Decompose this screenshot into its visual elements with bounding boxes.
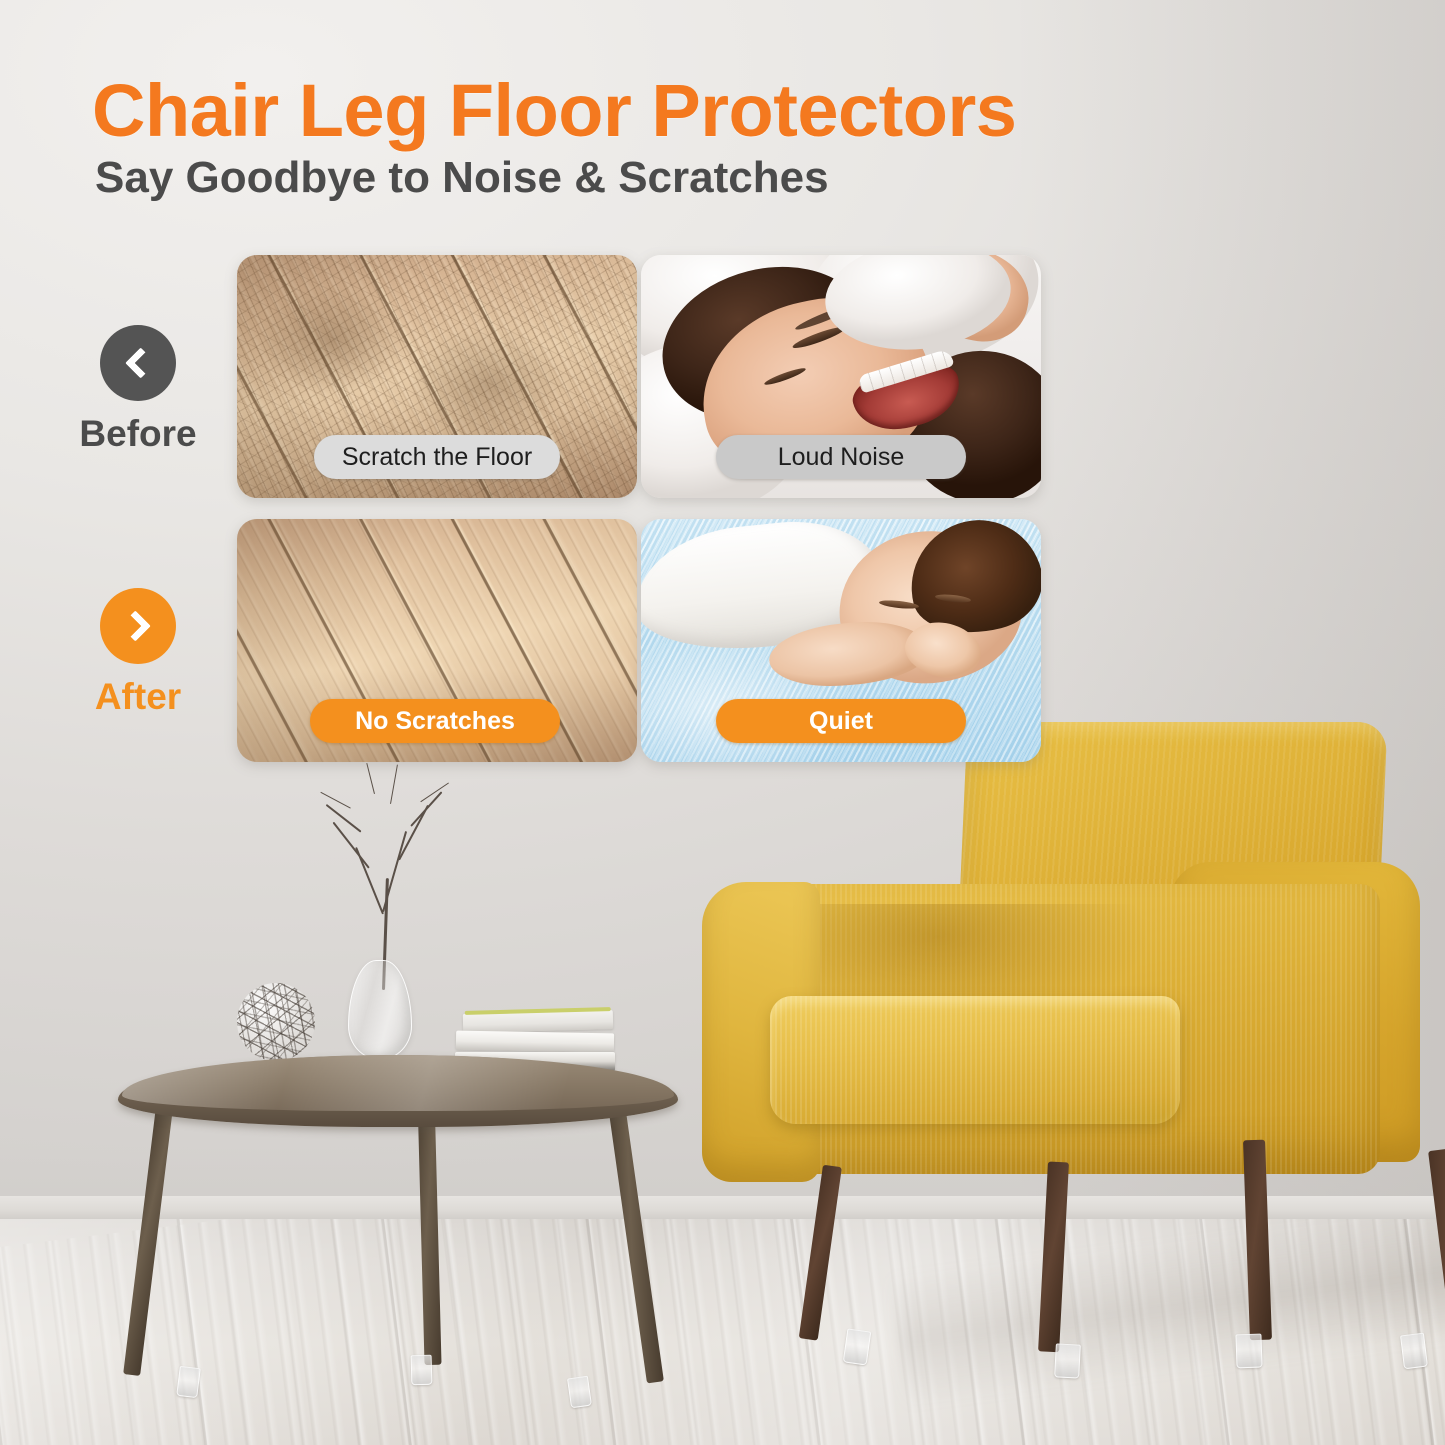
- panel-quiet-baby: Quiet: [641, 519, 1041, 762]
- chevron-left-glyph: [125, 347, 156, 378]
- before-label: Before: [58, 413, 218, 455]
- armchair-seat-cushion: [770, 996, 1180, 1124]
- coffee-table: [118, 1055, 678, 1415]
- badge-quiet: Quiet: [716, 699, 966, 743]
- book: [456, 1031, 614, 1053]
- panel-no-scratches-floor: No Scratches: [237, 519, 637, 762]
- chevron-left-icon: [100, 325, 176, 401]
- badge-no-scratches: No Scratches: [310, 699, 560, 743]
- coffee-table-leg: [418, 1115, 442, 1365]
- page-subtitle: Say Goodbye to Noise & Scratches: [95, 153, 829, 203]
- floor-protector-cap: [176, 1366, 200, 1398]
- page-title: Chair Leg Floor Protectors: [92, 68, 1016, 153]
- after-label: After: [58, 676, 218, 718]
- floor-protector-cap: [1400, 1333, 1428, 1370]
- badge-loud-noise: Loud Noise: [716, 435, 966, 479]
- floor-protector-cap: [1235, 1334, 1262, 1369]
- panel-loud-noise: Loud Noise: [641, 255, 1041, 498]
- floor-protector-cap: [843, 1328, 871, 1365]
- book: [463, 1010, 613, 1033]
- coffee-table-leg: [608, 1104, 664, 1384]
- floor-protector-cap: [567, 1376, 592, 1409]
- floor-protector-cap: [411, 1355, 433, 1386]
- panel-scratched-floor: Scratch the Floor: [237, 255, 637, 498]
- floor-protector-cap: [1054, 1343, 1081, 1378]
- dried-branches: [290, 758, 480, 988]
- chevron-right-glyph: [120, 610, 151, 641]
- after-marker: After: [58, 588, 218, 718]
- before-marker: Before: [58, 325, 218, 455]
- badge-scratch-the-floor: Scratch the Floor: [314, 435, 560, 479]
- wire-sphere-ornament: [237, 983, 315, 1061]
- chevron-right-icon: [100, 588, 176, 664]
- coffee-table-leg: [123, 1106, 173, 1376]
- coffee-table-top-surface: [122, 1055, 674, 1111]
- armchair: [690, 722, 1445, 1252]
